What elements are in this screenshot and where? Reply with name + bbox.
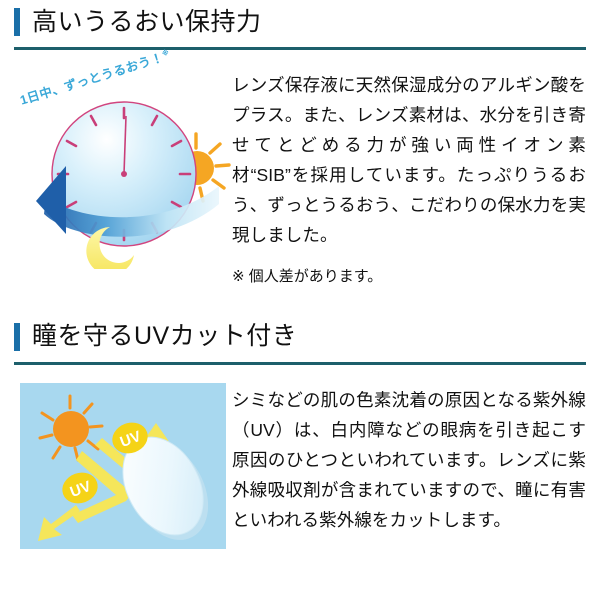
heading-row: 高いうるおい保持力 — [14, 0, 586, 44]
section-uv-paragraph: シミなどの肌の色素沈着の原因となる紫外線（UV）は、白内障などの眼病を引き起こす… — [232, 385, 586, 535]
clock-caption-mark: ※ — [161, 49, 170, 58]
section-uv: 瞳を守るUVカット付き — [0, 315, 600, 549]
section-moisture: 高いうるおい保持力 — [0, 0, 600, 289]
heading-accent-bar — [14, 8, 20, 36]
section-uv-header: 瞳を守るUVカット付き — [0, 315, 600, 365]
heading-divider-rule — [14, 362, 586, 365]
heading-row: 瞳を守るUVカット付き — [14, 315, 586, 359]
heading-accent-bar — [14, 323, 20, 351]
section-moisture-figure-col: 1日中、ずっとうるおう！※ — [14, 54, 232, 269]
section-moisture-title: 高いうるおい保持力 — [32, 10, 262, 35]
uv-cut-illustration: UV UV — [20, 383, 226, 549]
clock-globe-illustration: 1日中、ずっとうるおう！※ — [14, 54, 232, 269]
section-moisture-paragraph: レンズ保存液に天然保湿成分のアルギン酸をプラス。また、レンズ素材は、水分を引き寄… — [232, 70, 586, 251]
sun-icon — [40, 396, 102, 460]
section-moisture-header: 高いうるおい保持力 — [0, 0, 600, 50]
uv-cut-svg: UV UV — [20, 383, 226, 549]
section-uv-body: UV UV シミなどの肌の色素沈着の原因となる紫外線（UV）は、白内障などの眼病… — [0, 365, 600, 549]
section-moisture-body: 1日中、ずっとうるおう！※ レンズ保存液に天然保湿成分のアルギン酸をプラス。また… — [0, 50, 600, 289]
section-uv-text-col: シミなどの肌の色素沈着の原因となる紫外線（UV）は、白内障などの眼病を引き起こす… — [232, 383, 592, 535]
section-moisture-text-col: レンズ保存液に天然保湿成分のアルギン酸をプラス。また、レンズ素材は、水分を引き寄… — [232, 54, 592, 289]
product-feature-page: 高いうるおい保持力 — [0, 0, 600, 600]
section-moisture-note: ※ 個人差があります。 — [232, 265, 586, 289]
heading-divider-rule — [14, 47, 586, 50]
section-uv-title: 瞳を守るUVカット付き — [32, 324, 297, 349]
section-uv-figure-col: UV UV — [14, 383, 232, 549]
